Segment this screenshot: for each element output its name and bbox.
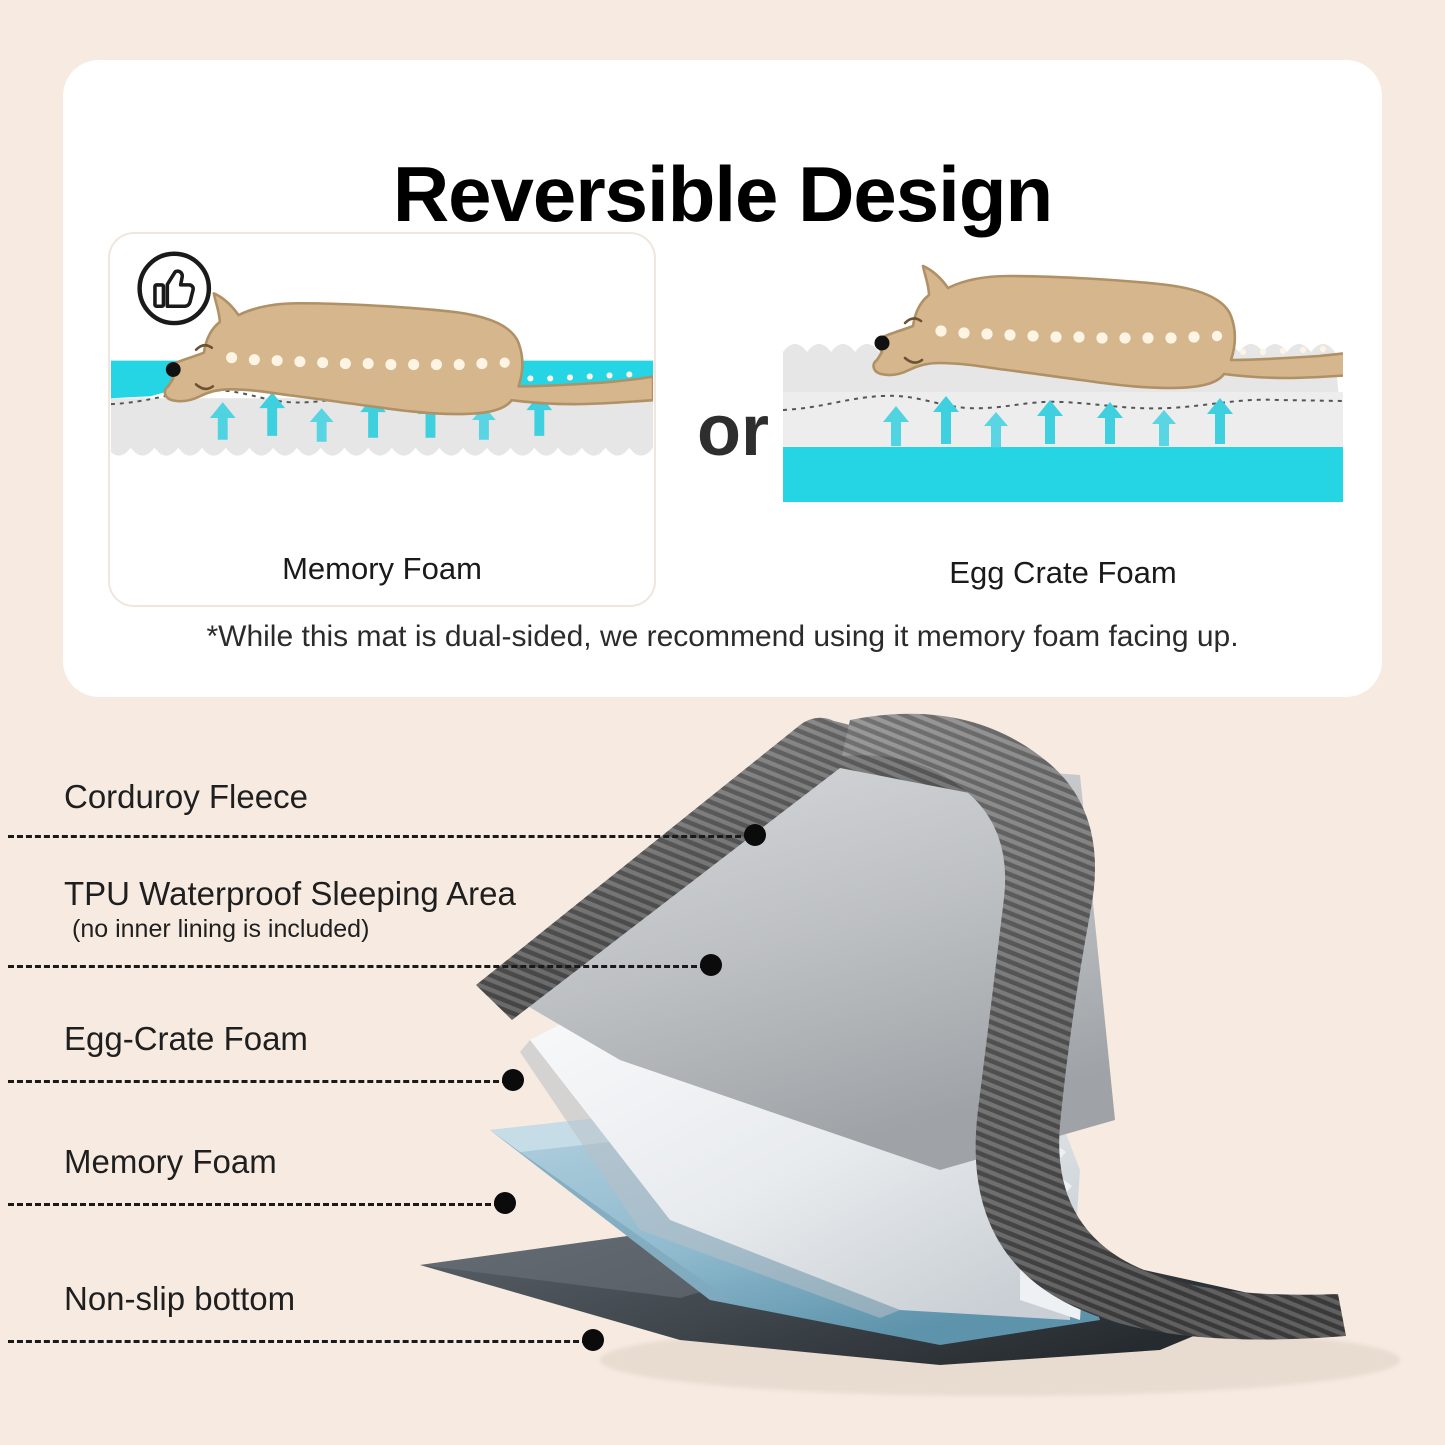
egg-crate-foam-illustration (783, 232, 1343, 607)
product-photo (380, 700, 1445, 1445)
memory-foam-panel: Memory Foam (108, 232, 656, 607)
callout-label: Egg-Crate Foam (64, 1020, 308, 1059)
callout-non-slip-bottom: Non-slip bottom (64, 1280, 295, 1319)
leader-dot-memory-foam (494, 1192, 516, 1214)
dog-illustration (165, 293, 653, 414)
exploded-view-section: Corduroy Fleece TPU Waterproof Sleeping … (0, 700, 1445, 1445)
callout-label: Non-slip bottom (64, 1280, 295, 1319)
egg-crate-foam-caption: Egg Crate Foam (783, 555, 1343, 591)
reversible-design-card: Reversible Design (63, 60, 1382, 697)
egg-crate-foam-panel: Egg Crate Foam (783, 232, 1343, 607)
leader-dot-non-slip-bottom (582, 1329, 604, 1351)
memory-foam-layer (783, 447, 1343, 502)
page-title: Reversible Design (63, 155, 1382, 233)
callout-memory-foam: Memory Foam (64, 1143, 277, 1182)
leader-line-memory-foam (8, 1203, 500, 1206)
footnote: *While this mat is dual-sided, we recomm… (63, 620, 1382, 654)
leader-dot-corduroy-fleece (744, 824, 766, 846)
leader-dot-tpu (700, 954, 722, 976)
leader-line-tpu (8, 965, 706, 968)
callout-label: TPU Waterproof Sleeping Area (64, 875, 516, 914)
or-divider: or (683, 395, 783, 467)
callout-sublabel: (no inner lining is included) (64, 914, 516, 944)
thumbs-up-icon (140, 254, 209, 323)
leader-line-corduroy-fleece (8, 835, 750, 838)
dog-nose (166, 362, 181, 377)
leader-line-non-slip-bottom (8, 1340, 588, 1343)
leader-dot-egg-crate-foam (502, 1069, 524, 1091)
callout-egg-crate-foam: Egg-Crate Foam (64, 1020, 308, 1059)
memory-foam-caption: Memory Foam (110, 551, 654, 587)
callout-corduroy-fleece: Corduroy Fleece (64, 778, 308, 817)
callout-tpu-waterproof: TPU Waterproof Sleeping Area (no inner l… (64, 875, 516, 944)
callout-label: Corduroy Fleece (64, 778, 308, 817)
dog-nose (875, 336, 890, 351)
leader-line-egg-crate-foam (8, 1080, 508, 1083)
memory-foam-illustration (110, 234, 654, 605)
callout-label: Memory Foam (64, 1143, 277, 1182)
